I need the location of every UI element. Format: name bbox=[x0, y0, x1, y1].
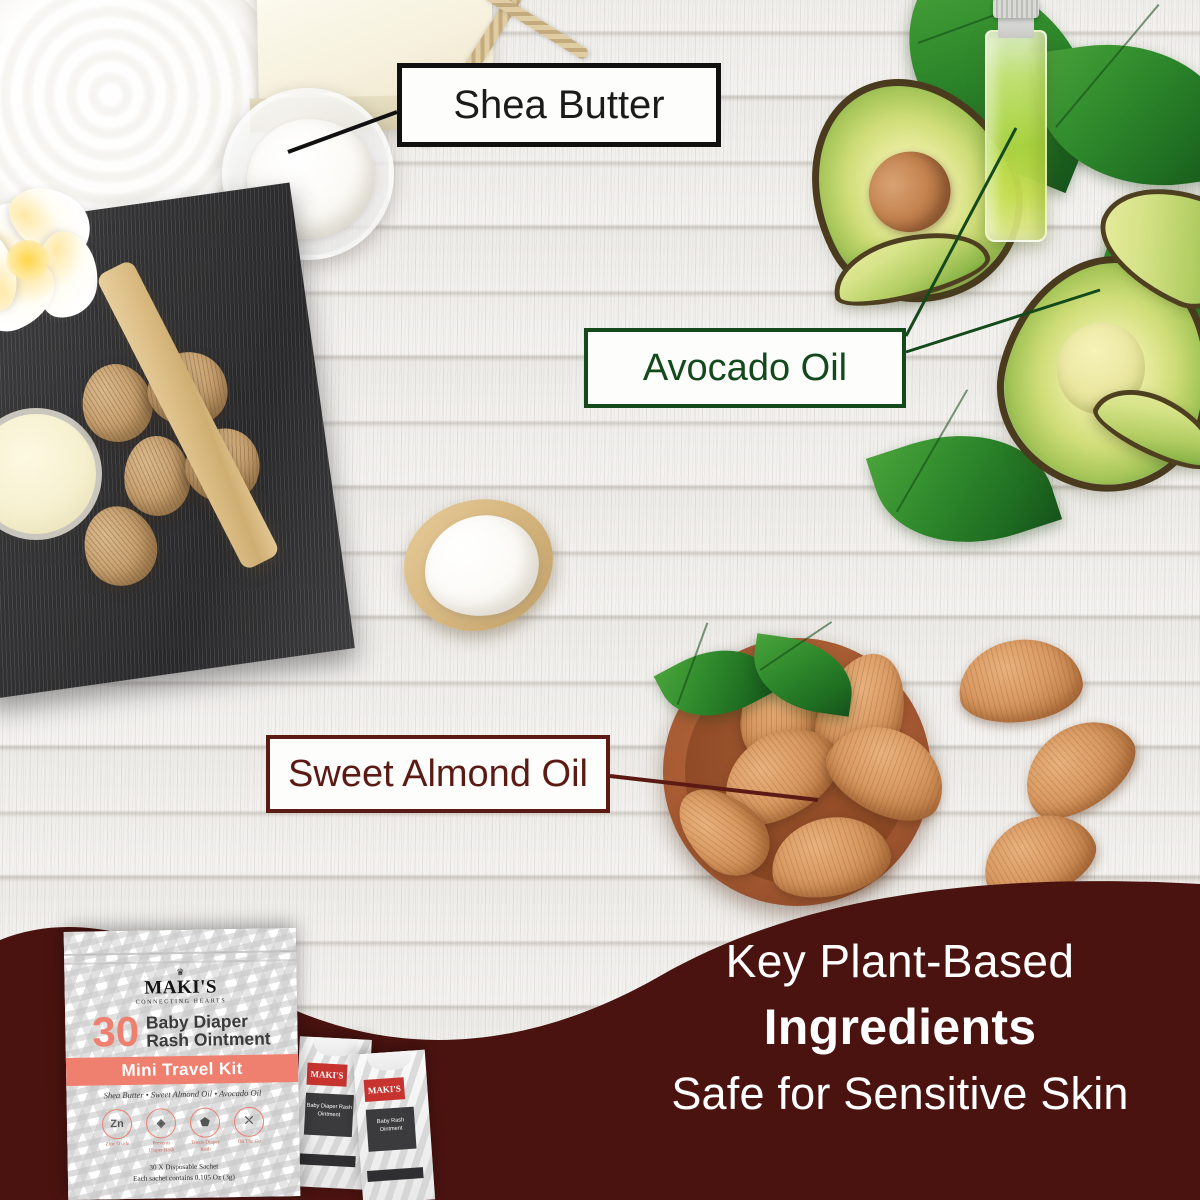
badge-treats-rash: ⬟ Treats Diaper Rash bbox=[188, 1107, 222, 1153]
shield-icon: ◈ bbox=[146, 1108, 177, 1139]
callout-sweet-almond-oil-label: Sweet Almond Oil bbox=[288, 755, 588, 793]
product-headline: 30 Baby Diaper Rash Ointment bbox=[65, 1010, 298, 1052]
badge-label: Prevents Diaper Rash bbox=[145, 1140, 178, 1154]
leader-line-avocado-a bbox=[906, 128, 1016, 336]
leader-line-shea bbox=[288, 112, 397, 152]
pouch-footer: 30 X Disposable Sachet Each sachet conta… bbox=[68, 1160, 300, 1185]
callout-shea-butter-label: Shea Butter bbox=[453, 85, 664, 125]
sachet-spout bbox=[366, 1050, 412, 1072]
callout-avocado-oil-label: Avocado Oil bbox=[643, 349, 847, 387]
product-count: 30 bbox=[92, 1013, 139, 1052]
badge-label: Treats Diaper Rash bbox=[189, 1140, 222, 1154]
banner-line-3: Safe for Sensitive Skin bbox=[620, 1068, 1180, 1120]
badge-label: Zinc Oxide bbox=[101, 1141, 134, 1148]
callout-shea-butter[interactable]: Shea Butter bbox=[397, 63, 721, 147]
product-pouch: ♛ MAKI'S CONNECTING HEARTS 30 Baby Diape… bbox=[64, 928, 301, 1200]
sachet-bottom-bar bbox=[299, 1153, 355, 1167]
callout-sweet-almond-oil[interactable]: Sweet Almond Oil bbox=[266, 735, 610, 813]
product-title-line-2: Rash Ointment bbox=[146, 1029, 271, 1050]
banner-line-2: Ingredients bbox=[620, 998, 1180, 1056]
leader-line-avocado-b bbox=[906, 290, 1100, 352]
sachet-item: MAKI'S Baby Rash Ointment bbox=[353, 1050, 435, 1200]
banner-line-1: Key Plant-Based bbox=[620, 934, 1180, 988]
car-icon: ⛌ bbox=[234, 1106, 265, 1137]
badge-label: On The Go bbox=[233, 1139, 266, 1146]
sachet-product-box: Baby Diaper Rash Ointment bbox=[304, 1093, 354, 1137]
leader-line-almond bbox=[610, 776, 818, 800]
zinc-icon: Zn bbox=[102, 1109, 133, 1140]
infographic-canvas: Shea Butter Avocado Oil Sweet Almond Oil… bbox=[0, 0, 1200, 1200]
sachet-bottom-bar bbox=[367, 1167, 424, 1182]
pouch-ingredients-line: Shea Butter • Sweet Almond Oil • Avocado… bbox=[66, 1087, 298, 1101]
callout-avocado-oil[interactable]: Avocado Oil bbox=[584, 328, 906, 408]
diaper-icon: ⬟ bbox=[190, 1107, 221, 1138]
badge-prevents-rash: ◈ Prevents Diaper Rash bbox=[144, 1108, 178, 1154]
badge-zinc-oxide: Zn Zinc Oxide bbox=[100, 1109, 134, 1155]
feature-badges: Zn Zinc Oxide ◈ Prevents Diaper Rash ⬟ T… bbox=[67, 1106, 300, 1156]
banner-text-block: Key Plant-Based Ingredients Safe for Sen… bbox=[620, 934, 1180, 1120]
brand-lockup: ♛ MAKI'S CONNECTING HEARTS bbox=[64, 966, 297, 1007]
kit-band: Mini Travel Kit bbox=[66, 1054, 298, 1086]
sachet-logo: MAKI'S bbox=[306, 1063, 347, 1087]
badge-on-the-go: ⛌ On The Go bbox=[232, 1106, 266, 1152]
sachet-product-box: Baby Rash Ointment bbox=[366, 1107, 417, 1152]
sachet-logo: MAKI'S bbox=[364, 1077, 405, 1102]
